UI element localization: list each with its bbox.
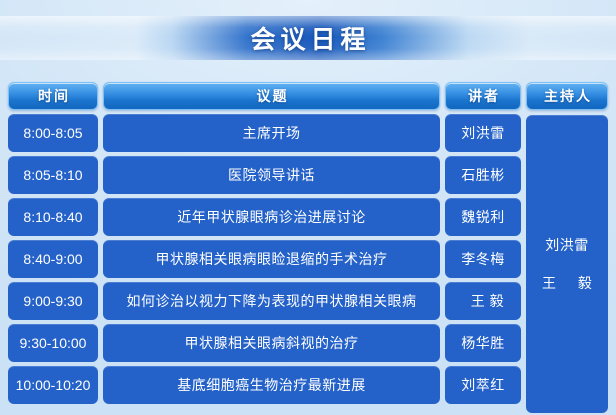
cell-speaker: 刘萃红 <box>445 366 521 404</box>
cell-time: 8:40-9:00 <box>8 240 98 278</box>
cell-time: 9:30-10:00 <box>8 324 98 362</box>
cell-speaker: 李冬梅 <box>445 240 521 278</box>
cell-speaker: 刘洪雷 <box>445 114 521 152</box>
column-header-time: 时间 <box>8 82 98 110</box>
column-header-speaker: 讲者 <box>445 82 521 110</box>
cell-topic: 基底细胞癌生物治疗最新进展 <box>103 366 440 404</box>
table-row: 8:40-9:00 甲状腺相关眼病眼睑退缩的手术治疗 李冬梅 <box>8 240 608 278</box>
cell-topic: 主席开场 <box>103 114 440 152</box>
table-row: 8:10-8:40 近年甲状腺眼病诊治进展讨论 魏锐利 <box>8 198 608 236</box>
table-row: 10:00-10:20 基底细胞癌生物治疗最新进展 刘萃红 <box>8 366 608 404</box>
column-header-topic: 议题 <box>103 82 440 110</box>
cell-time: 8:05-8:10 <box>8 156 98 194</box>
cell-speaker: 石胜彬 <box>445 156 521 194</box>
page-title: 会议日程 <box>0 16 616 60</box>
host-name: 王 毅 <box>533 273 601 293</box>
cell-time: 9:00-9:30 <box>8 282 98 320</box>
cell-speaker: 魏锐利 <box>445 198 521 236</box>
cell-topic: 甲状腺相关眼病眼睑退缩的手术治疗 <box>103 240 440 278</box>
column-header-host: 主持人 <box>526 82 608 110</box>
host-cell-wrapper: 刘洪雷 王 毅 <box>526 115 608 413</box>
cell-speaker: 杨华胜 <box>445 324 521 362</box>
cell-host-merged: 刘洪雷 王 毅 <box>526 115 608 413</box>
cell-topic: 如何诊治以视力下降为表现的甲状腺相关眼病 <box>103 282 440 320</box>
cell-topic: 近年甲状腺眼病诊治进展讨论 <box>103 198 440 236</box>
cell-topic: 医院领导讲话 <box>103 156 440 194</box>
host-name: 刘洪雷 <box>545 235 589 255</box>
table-row: 8:05-8:10 医院领导讲话 石胜彬 <box>8 156 608 194</box>
cell-time: 10:00-10:20 <box>8 366 98 404</box>
table-header-row: 时间 议题 讲者 主持人 <box>8 82 608 110</box>
table-row: 9:00-9:30 如何诊治以视力下降为表现的甲状腺相关眼病 王 毅 <box>8 282 608 320</box>
cell-topic: 甲状腺相关眼病斜视的治疗 <box>103 324 440 362</box>
table-row: 8:00-8:05 主席开场 刘洪雷 <box>8 114 608 152</box>
cell-speaker: 王 毅 <box>445 282 521 320</box>
cell-time: 8:10-8:40 <box>8 198 98 236</box>
cell-time: 8:00-8:05 <box>8 114 98 152</box>
schedule-table: 时间 议题 讲者 主持人 8:00-8:05 主席开场 刘洪雷 8:05-8:1… <box>8 82 608 408</box>
table-row: 9:30-10:00 甲状腺相关眼病斜视的治疗 杨华胜 <box>8 324 608 362</box>
